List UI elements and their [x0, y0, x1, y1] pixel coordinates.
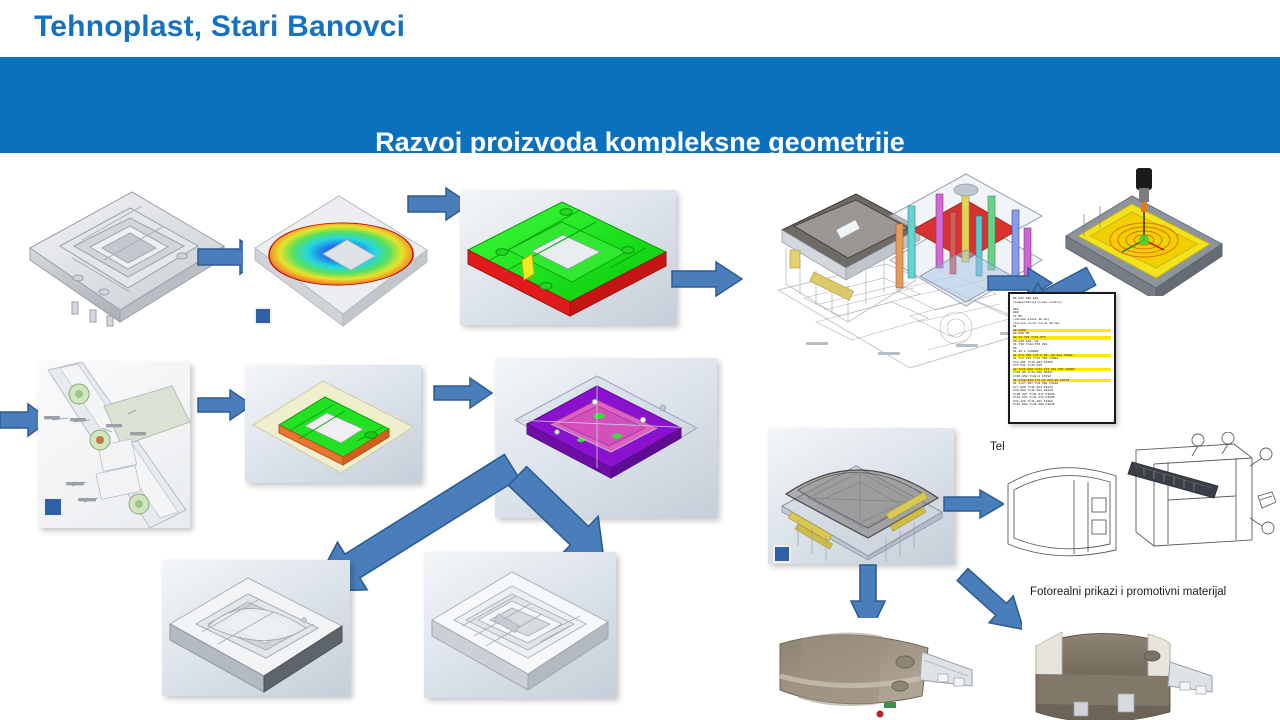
- banner-line-1: Razvoj proizvoda kompleksne geometrije: [0, 127, 1280, 158]
- panel-machined-cavity-a[interactable]: [162, 560, 350, 696]
- panel-green-core-model[interactable]: [460, 190, 676, 325]
- panel-machined-cavity-b[interactable]: [424, 552, 616, 698]
- cnc-code-lines: N5 G17 G80 G40(kompenzacija preko centra…: [1010, 294, 1114, 407]
- caption-photorealistic: Fotorealni prikazi i promotivni materija…: [1030, 586, 1226, 598]
- arrow-core-to-right: [672, 262, 744, 296]
- green-core-illustration: [460, 190, 676, 325]
- arrow-machining-to-verification: [434, 378, 494, 408]
- slide-root: Tehnoplast, Stari Banovci Razvoj proizvo…: [0, 0, 1280, 720]
- panel-mold-transparent-assembly[interactable]: [768, 428, 954, 564]
- panel-photo-product-open[interactable]: [772, 618, 988, 720]
- panel-instruction-lineart[interactable]: [1004, 432, 1276, 572]
- panel-photo-product-closed[interactable]: [1022, 612, 1222, 720]
- code-line: X=37.992 Y=41.208 F3445: [1013, 403, 1111, 407]
- photo-closed-illustration: [1022, 612, 1222, 720]
- cavity-b-illustration: [424, 552, 616, 698]
- panel-technical-drawing[interactable]: [38, 362, 190, 528]
- arrow-assembly-to-instructions: [944, 490, 1006, 518]
- instruction-lineart-illustration: [1004, 432, 1276, 572]
- cavity-a-illustration: [162, 560, 350, 696]
- panel-cnc-program-listing[interactable]: N5 G17 G80 G40(kompenzacija preko centra…: [1008, 292, 1116, 424]
- photo-open-illustration: [772, 618, 988, 720]
- technical-drawing-illustration: [38, 362, 190, 528]
- title-banner: Razvoj proizvoda kompleksne geometrije i…: [0, 57, 1280, 153]
- company-title: Tehnoplast, Stari Banovci: [34, 10, 405, 44]
- transparent-assembly-illustration: [768, 428, 954, 564]
